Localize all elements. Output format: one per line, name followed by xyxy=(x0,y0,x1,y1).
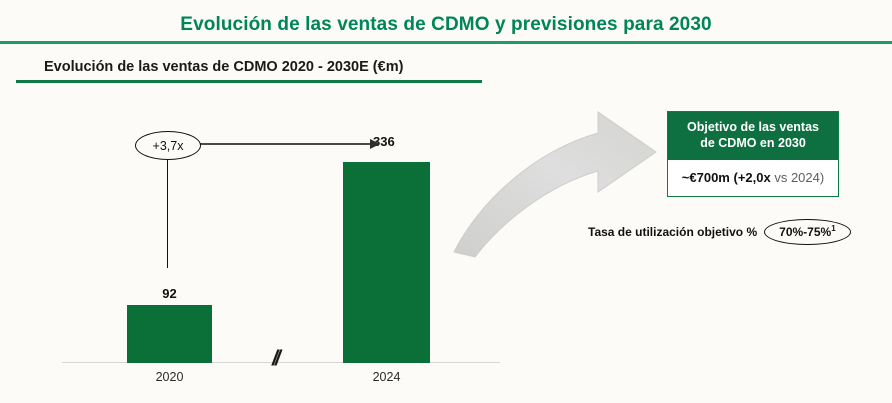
utilization-badge: 70%-75%1 xyxy=(764,219,850,245)
target-callout-body: ~€700m (+2,0x vs 2024) xyxy=(668,160,838,196)
utilization-value: 70%-75% xyxy=(779,225,831,239)
category-label-2024: 2024 xyxy=(343,370,430,384)
bar-chart: // 92 336 2020 2024 +3,7x xyxy=(0,0,520,403)
target-comparison: vs 2024) xyxy=(774,170,824,185)
bar-2020 xyxy=(127,305,212,363)
utilization-footnote-marker: 1 xyxy=(831,224,835,233)
growth-multiple-badge: +3,7x xyxy=(135,131,201,160)
bar-2024 xyxy=(343,162,430,363)
target-multiple: (+2,0x xyxy=(733,170,770,185)
target-value: ~€700m xyxy=(682,170,730,185)
utilization-label: Tasa de utilización objetivo % xyxy=(588,225,757,239)
utilization-row: Tasa de utilización objetivo % 70%-75%1 xyxy=(588,219,851,245)
growth-connector-line xyxy=(167,152,168,268)
category-label-2020: 2020 xyxy=(127,370,212,384)
slide: Evolución de las ventas de CDMO y previs… xyxy=(0,0,892,403)
growth-arrow-icon xyxy=(199,143,371,145)
axis-break-icon: // xyxy=(272,347,278,371)
bar-value-2024: 336 xyxy=(373,134,433,149)
bar-value-2020: 92 xyxy=(127,286,212,301)
target-callout-header-line1: Objetivo de las ventas xyxy=(687,120,819,134)
target-callout-header: Objetivo de las ventas de CDMO en 2030 xyxy=(668,112,838,160)
target-callout-header-line2: de CDMO en 2030 xyxy=(700,136,806,150)
target-callout-box: Objetivo de las ventas de CDMO en 2030 ~… xyxy=(667,111,839,197)
